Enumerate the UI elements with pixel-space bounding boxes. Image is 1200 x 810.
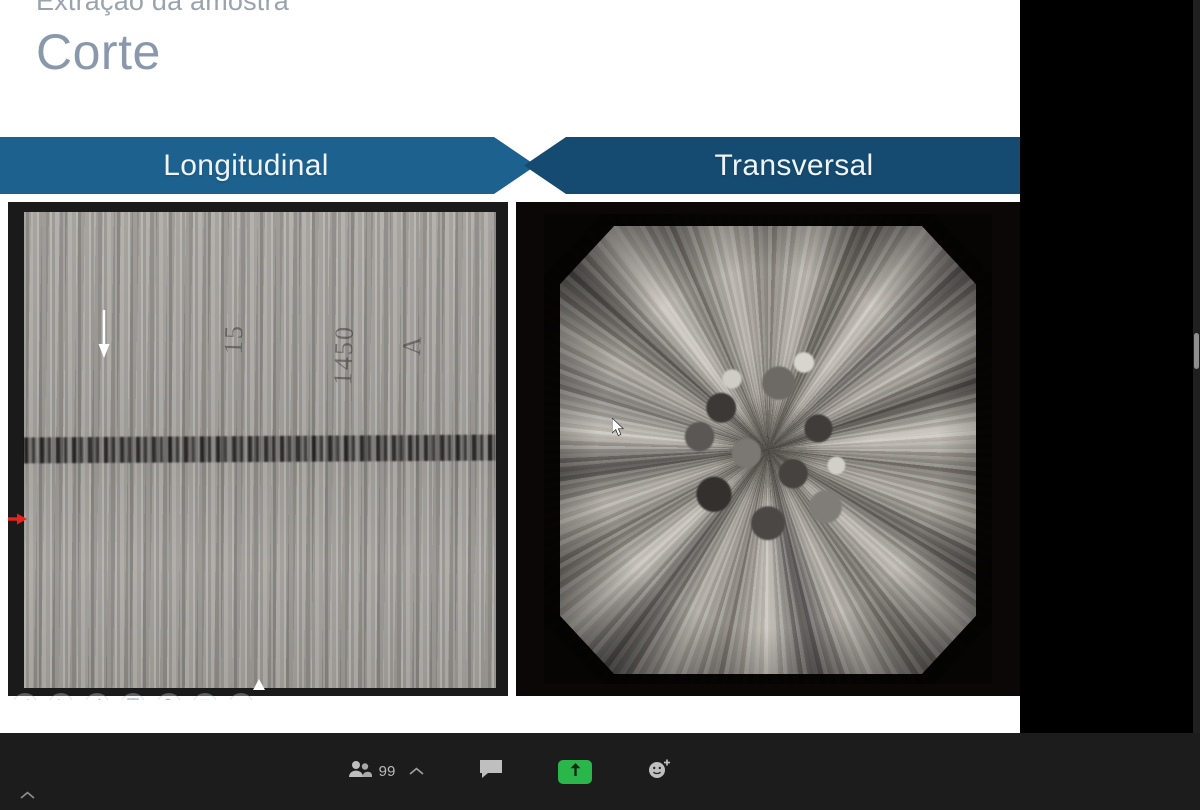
gallery-scrollbar[interactable] <box>1193 0 1200 733</box>
zoom-meeting-window: Extração da amostra Corte Longitudinal T… <box>0 0 1200 810</box>
transversal-vignette <box>544 214 992 684</box>
mouse-cursor <box>612 418 626 443</box>
macrograph-transversal <box>516 202 1020 696</box>
section-banner: Longitudinal Transversal <box>0 137 1020 194</box>
banner-transversal: Transversal <box>524 137 1020 194</box>
slide-kicker: Extração da amostra <box>36 0 289 17</box>
grid-icon <box>127 697 139 700</box>
longitudinal-plate: 15 1450 A <box>24 212 496 688</box>
share-screen-button[interactable] <box>558 760 592 784</box>
magnifier-icon <box>163 697 175 700</box>
chat-button[interactable] <box>478 758 504 785</box>
white-down-arrow-icon <box>96 310 112 365</box>
slide-header: Extração da amostra Corte <box>0 0 1020 137</box>
people-icon <box>348 760 372 783</box>
meeting-controls-center: 99 <box>0 733 1020 810</box>
stamp-mark-3: A <box>397 334 428 356</box>
macrograph-longitudinal: 15 1450 A <box>8 202 508 696</box>
stamp-mark-2: 1450 <box>328 324 360 385</box>
banner-longitudinal: Longitudinal <box>0 137 536 194</box>
participants-button[interactable]: 99 <box>348 760 396 783</box>
ellipsis-icon <box>235 697 248 700</box>
play-icon <box>56 697 67 700</box>
segregation-band <box>24 434 496 463</box>
banner-transversal-label: Transversal <box>715 149 874 183</box>
red-right-arrow-icon <box>8 512 28 531</box>
smiley-plus-icon <box>646 758 672 785</box>
white-up-tick-icon <box>251 678 267 696</box>
meeting-controls-bar: 99 <box>0 733 1200 810</box>
gallery-scrollbar-thumb[interactable] <box>1194 333 1199 369</box>
up-arrow-icon <box>569 762 582 782</box>
video-gallery-strip <box>1020 0 1193 733</box>
participants-menu-chevron-up-icon[interactable] <box>409 763 424 781</box>
participants-count: 99 <box>379 763 396 780</box>
pen-icon <box>91 697 103 700</box>
presenter-toolbar <box>0 697 1020 700</box>
chat-bubble-icon <box>478 758 504 785</box>
transversal-frame <box>544 214 992 684</box>
macrograph-row: 15 1450 A <box>0 202 1020 696</box>
page-title: Corte <box>36 23 161 81</box>
subtitle-icon <box>199 697 211 700</box>
shared-screen-region: Extração da amostra Corte Longitudinal T… <box>0 0 1020 733</box>
chevron-left-icon <box>20 697 31 700</box>
stamp-mark-1: 15 <box>218 323 249 354</box>
reactions-button[interactable] <box>646 758 672 785</box>
banner-longitudinal-label: Longitudinal <box>163 149 328 183</box>
presentation-slide: Extração da amostra Corte Longitudinal T… <box>0 0 1020 700</box>
share-screen-badge <box>558 760 592 784</box>
